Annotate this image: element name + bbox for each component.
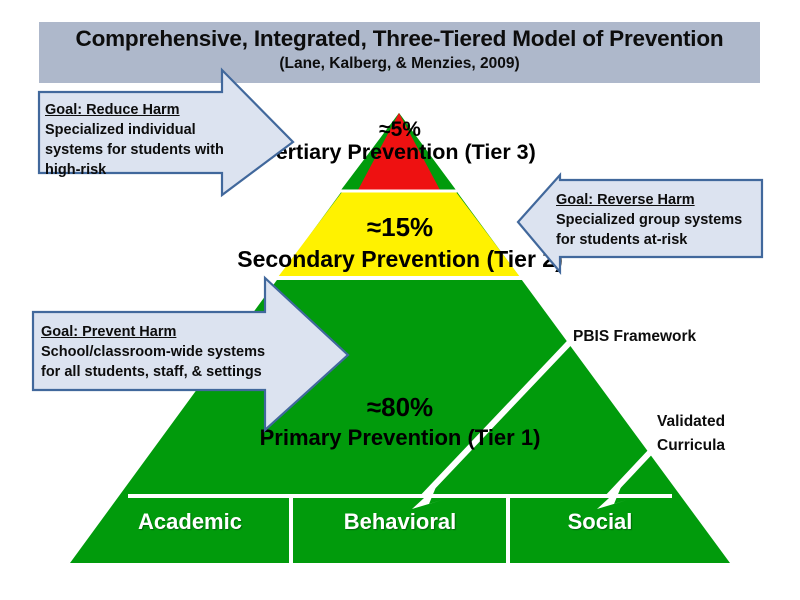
callout-prevent-harm-line1: School/classroom-wide systems: [41, 342, 265, 362]
callout-arrows-group: [0, 0, 800, 600]
diagram-canvas: Comprehensive, Integrated, Three-Tiered …: [0, 0, 800, 600]
callout-reverse-harm-line1: Specialized group systems: [556, 210, 742, 230]
callout-reduce-harm-line1: Specialized individual: [45, 120, 224, 140]
callout-reduce-harm-line2: systems for students with: [45, 140, 224, 160]
callout-reduce-harm-line3: high-risk: [45, 160, 224, 180]
callout-reverse-harm-line2: for students at-risk: [556, 230, 742, 250]
callout-prevent-harm-line2: for all students, staff, & settings: [41, 362, 265, 382]
callout-prevent-harm-goal: Goal: Prevent Harm: [41, 322, 265, 342]
callout-reduce-harm-text: Goal: Reduce Harm Specialized individual…: [45, 100, 224, 180]
callout-reverse-harm-goal: Goal: Reverse Harm: [556, 190, 742, 210]
callout-reverse-harm-text: Goal: Reverse Harm Specialized group sys…: [556, 190, 742, 250]
callout-reduce-harm-goal: Goal: Reduce Harm: [45, 100, 224, 120]
callout-prevent-harm-text: Goal: Prevent Harm School/classroom-wide…: [41, 322, 265, 382]
